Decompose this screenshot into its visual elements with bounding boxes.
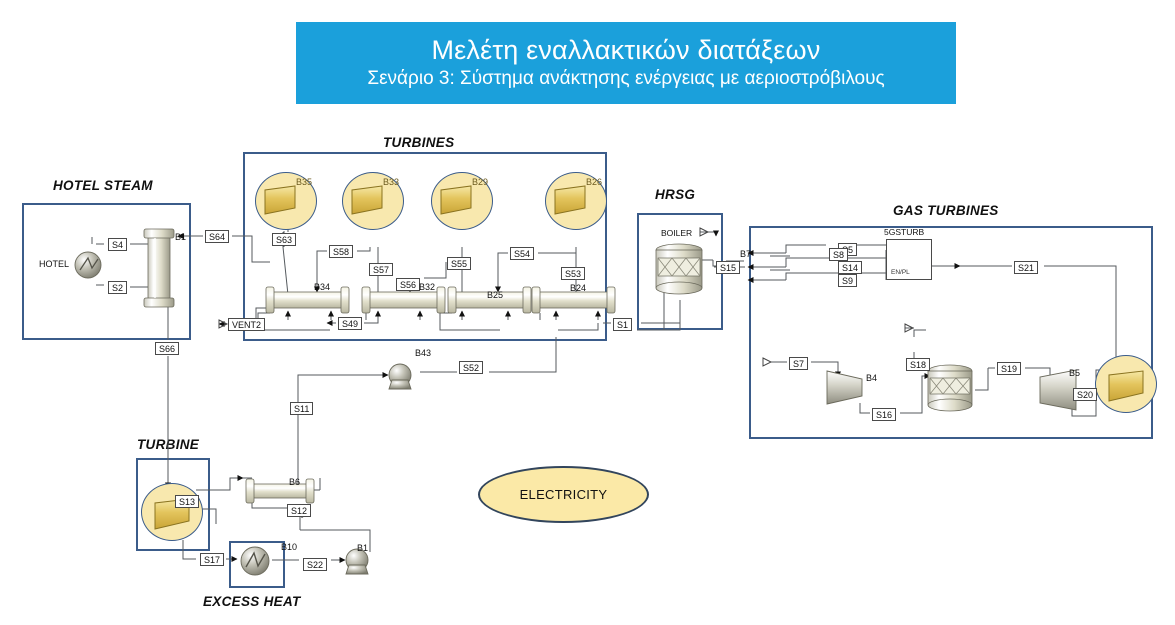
stream-tag-s4[interactable]: S4	[108, 238, 127, 251]
engine-block-label: 5GSTURB	[884, 227, 924, 237]
stream-tag-s20[interactable]: S20	[1073, 388, 1097, 401]
stream-tag-s9[interactable]: S9	[838, 274, 857, 287]
turbine-id-label: B33	[383, 177, 399, 187]
block-id-b25: B25	[487, 290, 503, 300]
turbine-unit-b35[interactable]: B35	[255, 172, 317, 230]
engine-block-sub-label: EN/PL	[891, 269, 910, 276]
turbine-unit-lower-left[interactable]	[141, 483, 203, 541]
stream-tag-s8[interactable]: S8	[829, 248, 848, 261]
block-id-b34: B34	[314, 282, 330, 292]
stream-tag-s58[interactable]: S58	[329, 245, 353, 258]
stream-tag-s7[interactable]: S7	[789, 357, 808, 370]
turbine-unit-gas-right[interactable]	[1095, 355, 1157, 413]
stream-tag-s16[interactable]: S16	[872, 408, 896, 421]
electricity-oval[interactable]: ELECTRICITY	[478, 466, 649, 523]
column-b1-body	[144, 229, 174, 307]
stream-tag-s49[interactable]: S49	[338, 317, 362, 330]
hotel-source-label: HOTEL	[39, 259, 69, 269]
turbine-unit-b33[interactable]: B33	[342, 172, 404, 230]
turbine-id-label: B29	[472, 177, 488, 187]
block-id-b24: B24	[570, 283, 586, 293]
stream-tag-s13[interactable]: S13	[175, 495, 199, 508]
stream-tag-s66[interactable]: S66	[155, 342, 179, 355]
stream-tag-s19[interactable]: S19	[997, 362, 1021, 375]
block-id-b43: B43	[415, 348, 431, 358]
cooler-b10-body	[241, 547, 269, 575]
stream-tag-s21[interactable]: S21	[1014, 261, 1038, 274]
compressor-b4-body	[827, 371, 862, 404]
block-id-b7: B7	[740, 249, 751, 259]
stream-tag-s17[interactable]: S17	[200, 553, 224, 566]
turbine-rotor-icon	[141, 483, 203, 541]
stream-tag-s12[interactable]: S12	[287, 504, 311, 517]
stream-tag-s56[interactable]: S56	[396, 278, 420, 291]
stream-tag-s2[interactable]: S2	[108, 281, 127, 294]
block-id-b1: B1	[357, 543, 368, 553]
stream-tag-vent2[interactable]: VENT2	[228, 318, 265, 331]
electricity-label: ELECTRICITY	[520, 487, 608, 502]
diagram-canvas: Μελέτη εναλλακτικών διατάξεων Σενάριο 3:…	[0, 0, 1175, 625]
stream-tag-s1[interactable]: S1	[613, 318, 632, 331]
stream-tag-s54[interactable]: S54	[510, 247, 534, 260]
gas-turbine-engine-block[interactable]: EN/PL	[886, 239, 932, 280]
block-id-b6: B6	[289, 477, 300, 487]
boiler-body	[656, 244, 702, 294]
stream-tag-s11[interactable]: S11	[290, 402, 313, 415]
stream-tag-s55[interactable]: S55	[447, 257, 471, 270]
hotel-exchanger-body	[75, 252, 101, 278]
stream-tag-s57[interactable]: S57	[369, 263, 393, 276]
turbine-unit-b26[interactable]: B26	[545, 172, 607, 230]
combustor-body	[928, 365, 972, 411]
stream-tag-s53[interactable]: S53	[561, 267, 585, 280]
block-id-b5: B5	[1069, 368, 1080, 378]
block-id-b10: B10	[281, 542, 297, 552]
pump-b43-body	[389, 364, 411, 389]
stream-tag-s63[interactable]: S63	[272, 233, 296, 246]
stream-tag-s22[interactable]: S22	[303, 558, 327, 571]
turbine-rotor-icon	[1095, 355, 1157, 413]
block-id-b4: B4	[866, 373, 877, 383]
stream-tag-s15[interactable]: S15	[716, 261, 740, 274]
stream-tag-s64[interactable]: S64	[205, 230, 229, 243]
stream-tag-s18[interactable]: S18	[906, 358, 930, 371]
stream-tag-s14[interactable]: S14	[838, 261, 862, 274]
turbine-id-label: B35	[296, 177, 312, 187]
boiler-label: BOILER	[661, 228, 692, 238]
turbine-unit-b29[interactable]: B29	[431, 172, 493, 230]
turbine-id-label: B26	[586, 177, 602, 187]
block-id-b1: B1	[175, 232, 186, 242]
block-id-b32: B32	[419, 282, 435, 292]
stream-tag-s52[interactable]: S52	[459, 361, 483, 374]
